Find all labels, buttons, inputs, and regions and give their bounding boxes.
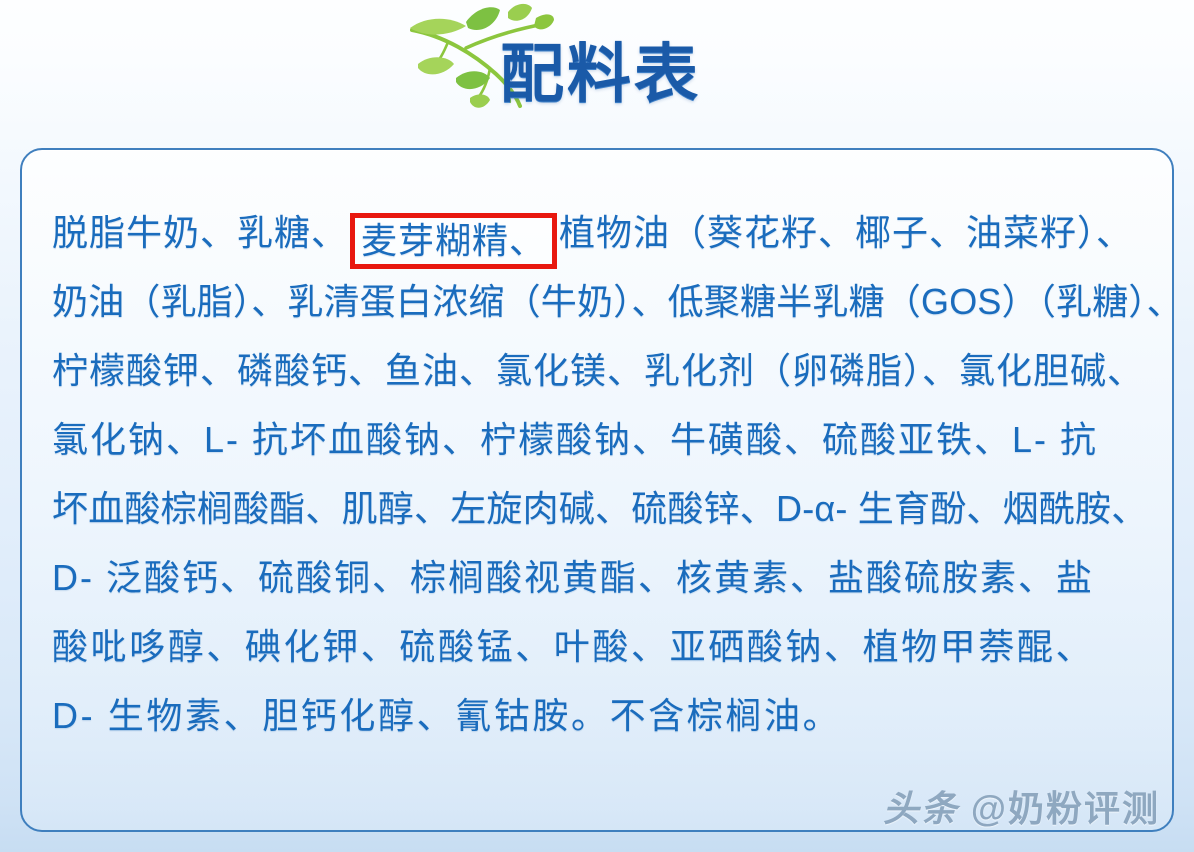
- ingredient-line-7: 酸吡哆醇、碘化钾、硫酸锰、叶酸、亚硒酸钠、植物甲萘醌、: [52, 612, 1148, 681]
- screenshot-root: 配料表 脱脂牛奶、乳糖、麦芽糊精、植物油（葵花籽、椰子、油菜籽）、 奶油（乳脂）…: [0, 0, 1194, 852]
- page-title: 配料表: [500, 38, 701, 110]
- ingredient-line-1-before: 脱脂牛奶、乳糖、: [52, 212, 348, 253]
- ingredient-line-1: 脱脂牛奶、乳糖、麦芽糊精、植物油（葵花籽、椰子、油菜籽）、: [52, 198, 1148, 267]
- highlighted-ingredient-maltodextrin: 麦芽糊精、: [350, 213, 557, 269]
- ingredients-text-block: 脱脂牛奶、乳糖、麦芽糊精、植物油（葵花籽、椰子、油菜籽）、 奶油（乳脂）、乳清蛋…: [52, 198, 1148, 750]
- watermark-source: 头条: [883, 788, 959, 829]
- ingredient-line-1-after: 植物油（葵花籽、椰子、油菜籽）、: [559, 212, 1133, 253]
- ingredient-line-5: 坏血酸棕榈酸酯、肌醇、左旋肉碱、硫酸锌、D-α- 生育酚、烟酰胺、: [52, 474, 1148, 543]
- ingredient-line-3: 柠檬酸钾、磷酸钙、鱼油、氯化镁、乳化剂（卵磷脂）、氯化胆碱、: [52, 336, 1148, 405]
- ingredient-line-2: 奶油（乳脂）、乳清蛋白浓缩（牛奶）、低聚糖半乳糖（GOS）（乳糖）、: [52, 267, 1148, 336]
- ingredients-panel: 脱脂牛奶、乳糖、麦芽糊精、植物油（葵花籽、椰子、油菜籽）、 奶油（乳脂）、乳清蛋…: [20, 148, 1174, 832]
- watermark: 头条 @奶粉评测: [883, 780, 1160, 832]
- watermark-handle: @奶粉评测: [971, 788, 1160, 829]
- ingredient-line-8: D- 生物素、胆钙化醇、氰钴胺。不含棕榈油。: [52, 681, 1148, 750]
- ingredient-line-4: 氯化钠、L- 抗坏血酸钠、柠檬酸钠、牛磺酸、硫酸亚铁、L- 抗: [52, 405, 1148, 474]
- ingredient-line-6: D- 泛酸钙、硫酸铜、棕榈酸视黄酯、核黄素、盐酸硫胺素、盐: [52, 543, 1148, 612]
- header: 配料表: [0, 0, 1194, 140]
